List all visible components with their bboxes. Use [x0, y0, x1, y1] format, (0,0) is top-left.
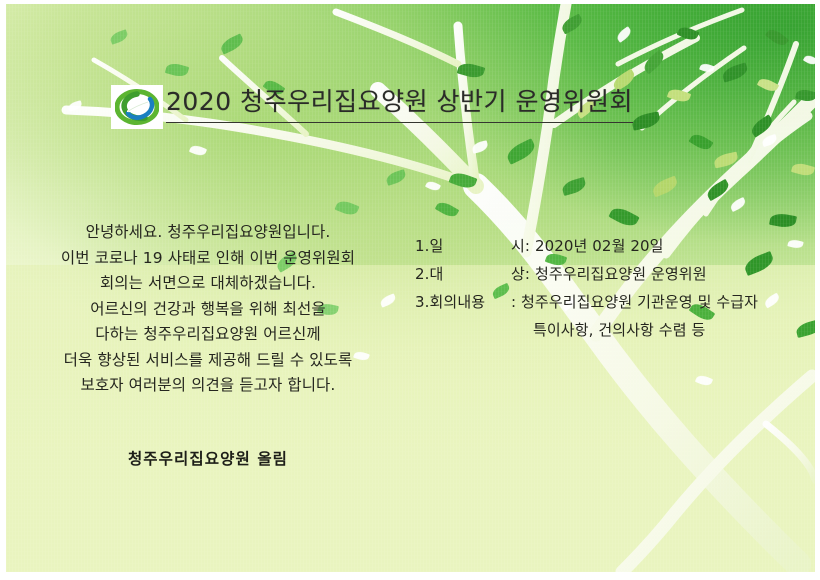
page-title: 2020 청주우리집요양원 상반기 운영위원회: [166, 87, 633, 123]
agenda-separator: :: [511, 288, 516, 316]
scanned-page: 2020 청주우리집요양원 상반기 운영위원회 안녕하세요. 청주우리집요양원입…: [0, 0, 820, 580]
agenda-number: 3.: [415, 293, 430, 311]
letter-line: 이번 코로나 19 사태로 인해 이번 운영위원회: [24, 246, 392, 272]
scan-bottom-margin: [0, 572, 820, 580]
agenda-number: 2.: [415, 265, 430, 283]
letter-line: 다하는 청주우리집요양원 어르신께: [24, 322, 392, 348]
agenda-label: 회의내용: [430, 293, 486, 311]
agenda-list: 1.일시: 2020년 02월 20일 2.대상: 청주우리집요양원 운영위원 …: [415, 232, 758, 344]
letter-line: 회의는 서면으로 대체하겠습니다.: [24, 271, 392, 297]
letter-line: 어르신의 건강과 행복을 위해 최선을: [24, 297, 392, 323]
agenda-continuation: 특이사항, 건의사항 수렴 등: [511, 316, 758, 344]
letter-line: 보호자 여러분의 의견을 듣고자 합니다.: [24, 373, 392, 399]
agenda-label: 대: [430, 265, 444, 283]
agenda-item-contents: 3.회의내용: 청주우리집요양원 기관운영 및 수급자: [415, 288, 758, 316]
letter-signature: 청주우리집요양원 올림: [24, 447, 392, 469]
agenda-label: 일: [430, 237, 444, 255]
agenda-value: 청주우리집요양원 운영위원: [535, 260, 707, 288]
agenda-separator: 시:: [511, 232, 530, 260]
nursing-home-logo-icon: [115, 89, 159, 125]
page-title-wrapper: 2020 청주우리집요양원 상반기 운영위원회: [166, 87, 633, 123]
letter-body: 안녕하세요. 청주우리집요양원입니다. 이번 코로나 19 사태로 인해 이번 …: [24, 220, 392, 399]
organization-logo: [111, 85, 163, 129]
agenda-key: 3.회의내용: [415, 288, 511, 316]
agenda-number: 1.: [415, 237, 430, 255]
agenda-separator: 상:: [511, 260, 530, 288]
notice-page: 2020 청주우리집요양원 상반기 운영위원회 안녕하세요. 청주우리집요양원입…: [6, 4, 815, 572]
letter-line: 더욱 향상된 서비스를 제공해 드릴 수 있도록: [24, 348, 392, 374]
agenda-item-audience: 2.대상: 청주우리집요양원 운영위원: [415, 260, 758, 288]
agenda-item-date: 1.일시: 2020년 02월 20일: [415, 232, 758, 260]
letter-line: 안녕하세요. 청주우리집요양원입니다.: [24, 220, 392, 246]
agenda-key: 2.대: [415, 260, 511, 288]
agenda-key: 1.일: [415, 232, 511, 260]
agenda-value: 2020년 02월 20일: [535, 232, 664, 260]
agenda-value: 청주우리집요양원 기관운영 및 수급자: [521, 288, 758, 316]
scan-right-margin: [815, 0, 820, 580]
